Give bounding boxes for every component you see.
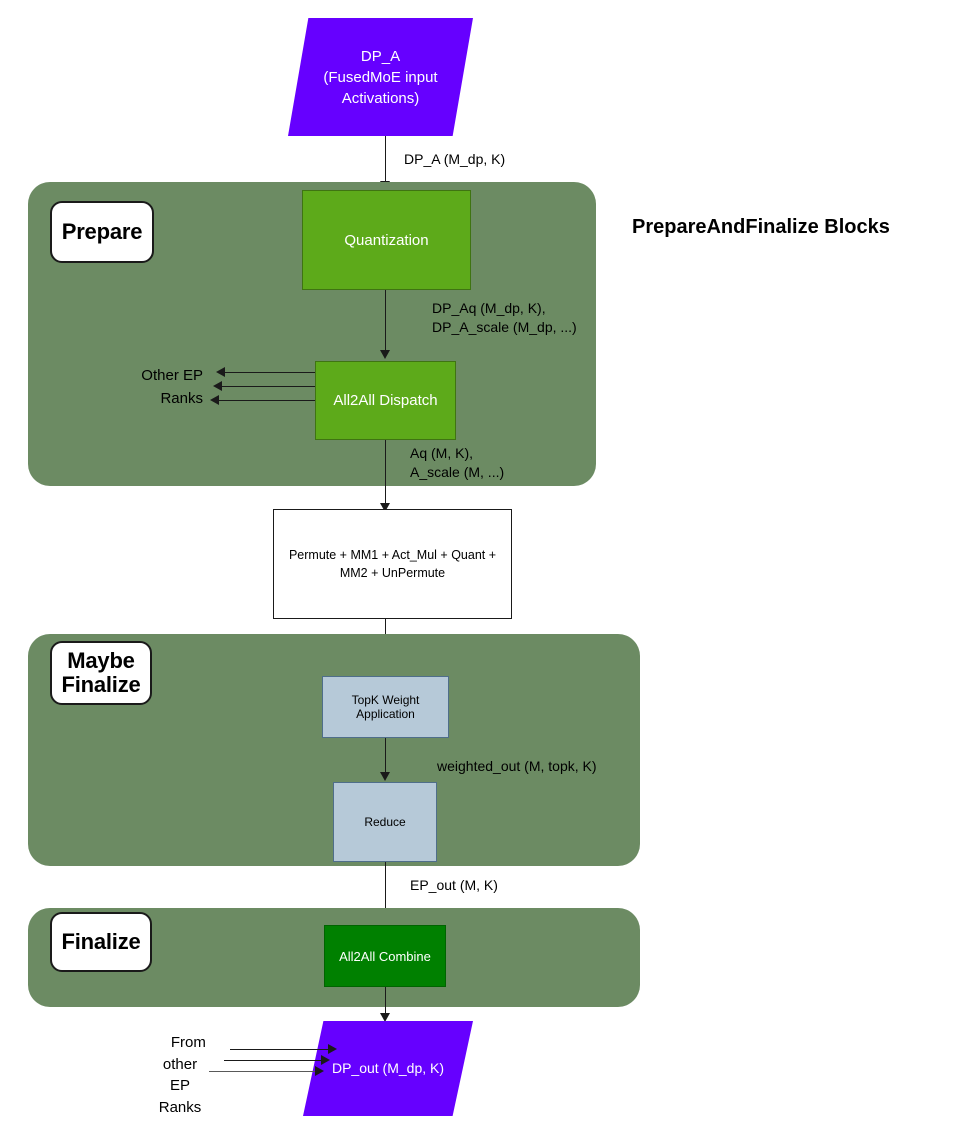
edge-label-dp-aq: DP_Aq (M_dp, K), DP_A_scale (M_dp, ...) bbox=[432, 299, 577, 337]
edge-incoming-2 bbox=[224, 1060, 322, 1061]
edge-combine-to-dpout-line bbox=[385, 987, 386, 1015]
node-quantization[interactable]: Quantization bbox=[302, 190, 471, 290]
node-all2all-dispatch[interactable]: All2All Dispatch bbox=[315, 361, 456, 440]
edge-dispatch-out-3 bbox=[219, 400, 315, 401]
edge-dispatch-out-1 bbox=[225, 372, 315, 373]
label-other-ep-ranks: Other EP Ranks bbox=[108, 365, 203, 410]
edge-dispatch-out-2-arrow bbox=[213, 381, 222, 391]
diagram-title: PrepareAndFinalize Blocks bbox=[632, 216, 890, 239]
edge-label-aq: Aq (M, K), A_scale (M, ...) bbox=[410, 444, 504, 482]
node-topk-weight-application[interactable]: TopK Weight Application bbox=[322, 676, 449, 738]
edge-dp-aq-line bbox=[385, 290, 386, 350]
edge-aq-line bbox=[385, 440, 386, 510]
diagram-canvas: PrepareAndFinalize Blocks DP_A (FusedMoE… bbox=[0, 0, 971, 1121]
label-from-other-ep-ranks: From other EP Ranks bbox=[143, 1010, 217, 1121]
node-reduce[interactable]: Reduce bbox=[333, 782, 437, 862]
edge-incoming-1 bbox=[230, 1049, 329, 1050]
group-label-maybe-finalize: Maybe Finalize bbox=[50, 641, 152, 705]
node-experts-block-label: Permute + MM1 + Act_Mul + Quant + MM2 + … bbox=[289, 546, 496, 582]
node-dp-out[interactable]: DP_out (M_dp, K) bbox=[303, 1021, 473, 1116]
node-all2all-combine[interactable]: All2All Combine bbox=[324, 925, 446, 987]
edge-incoming-1-arrow bbox=[328, 1044, 337, 1054]
node-dp-a-input[interactable]: DP_A (FusedMoE input Activations) bbox=[288, 18, 473, 136]
group-label-prepare: Prepare bbox=[50, 201, 154, 263]
edge-incoming-3 bbox=[209, 1071, 316, 1072]
edge-dispatch-out-2 bbox=[222, 386, 315, 387]
edge-label-dp-a: DP_A (M_dp, K) bbox=[404, 150, 505, 169]
label-from-other-ep-ranks-text: From other EP Ranks bbox=[159, 1034, 206, 1116]
edge-label-weighted-out: weighted_out (M, topk, K) bbox=[437, 757, 597, 776]
group-label-finalize: Finalize bbox=[50, 912, 152, 972]
edge-dispatch-out-1-arrow bbox=[216, 367, 225, 377]
edge-label-ep-out: EP_out (M, K) bbox=[410, 876, 498, 895]
edge-dispatch-out-3-arrow bbox=[210, 395, 219, 405]
edge-combine-to-dpout-arrow bbox=[380, 1013, 390, 1022]
edge-dp-a-line bbox=[385, 136, 386, 182]
node-experts-block[interactable]: Permute + MM1 + Act_Mul + Quant + MM2 + … bbox=[273, 509, 512, 619]
edge-incoming-3-arrow bbox=[315, 1066, 324, 1076]
group-label-maybe-finalize-text: Maybe Finalize bbox=[61, 649, 140, 697]
edge-weighted-out-arrow bbox=[380, 772, 390, 781]
edge-incoming-2-arrow bbox=[321, 1055, 330, 1065]
edge-dp-aq-arrow bbox=[380, 350, 390, 359]
